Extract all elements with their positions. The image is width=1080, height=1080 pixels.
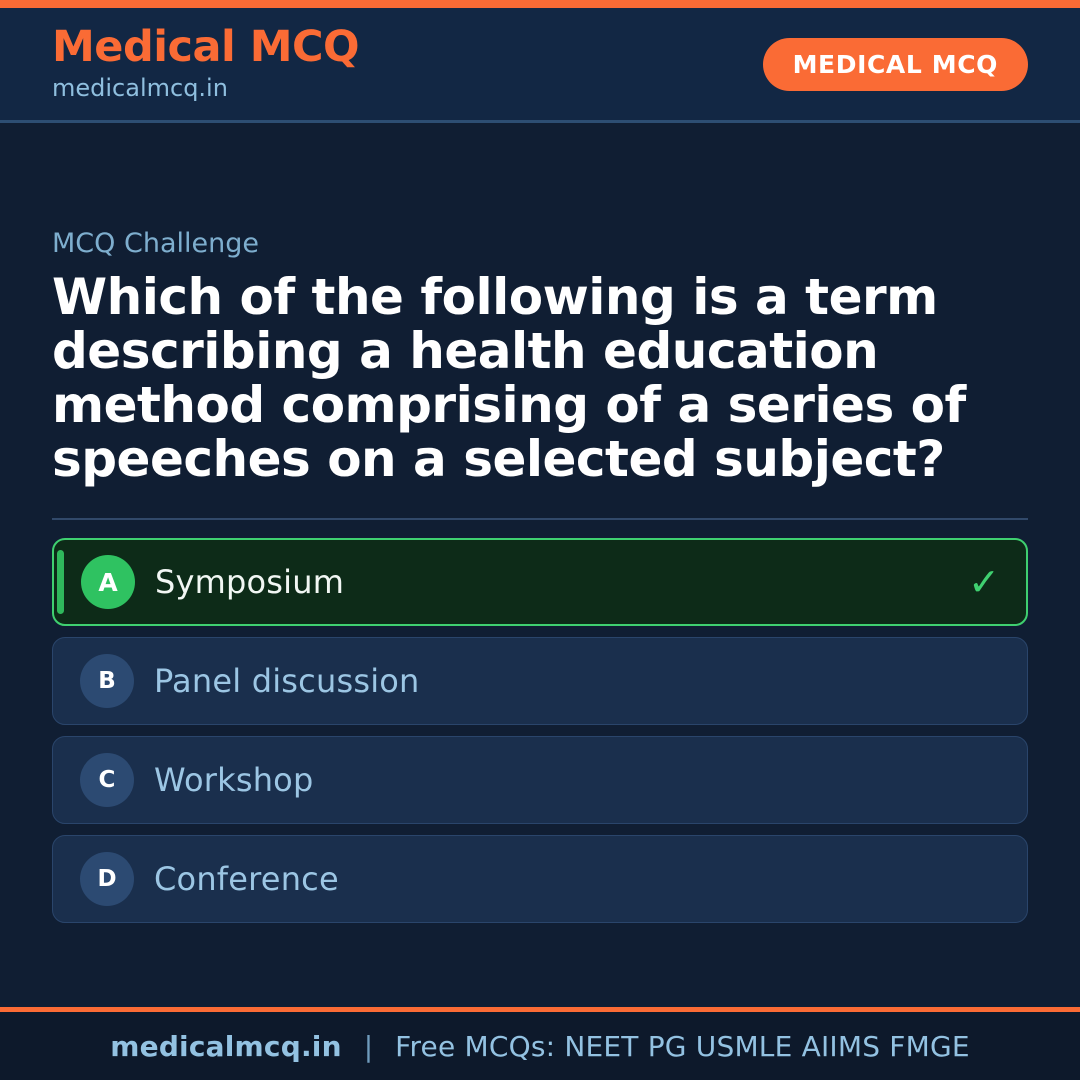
option-a[interactable]: A Symposium ✓ [52, 538, 1028, 626]
section-divider [52, 518, 1028, 520]
page-footer: medicalmcq.in | Free MCQs: NEET PG USMLE… [0, 1007, 1080, 1080]
eyebrow-label: MCQ Challenge [52, 228, 1028, 260]
footer-exams: Free MCQs: NEET PG USMLE AIIMS FMGE [395, 1030, 970, 1063]
option-b-letter-badge: B [80, 654, 134, 708]
option-c[interactable]: C Workshop [52, 736, 1028, 824]
question-text: Which of the following is a term describ… [52, 270, 1028, 486]
brand-subtitle: medicalmcq.in [52, 74, 359, 103]
correct-accent-bar [57, 550, 64, 614]
main-content: MCQ Challenge Which of the following is … [0, 123, 1080, 1007]
page-header: Medical MCQ medicalmcq.in MEDICAL MCQ [0, 8, 1080, 123]
option-b-label: Panel discussion [154, 665, 420, 697]
header-badge: MEDICAL MCQ [763, 38, 1028, 91]
top-accent-stripe [0, 0, 1080, 8]
brand-title: Medical MCQ [52, 25, 359, 70]
footer-content: medicalmcq.in | Free MCQs: NEET PG USMLE… [110, 1030, 970, 1063]
mcq-card: Medical MCQ medicalmcq.in MEDICAL MCQ MC… [0, 0, 1080, 1080]
footer-site: medicalmcq.in [110, 1030, 341, 1063]
option-d[interactable]: D Conference [52, 835, 1028, 923]
brand: Medical MCQ medicalmcq.in [52, 25, 359, 103]
option-a-letter-badge: A [81, 555, 135, 609]
footer-separator: | [364, 1030, 373, 1063]
options-list: A Symposium ✓ B Panel discussion C Works… [52, 538, 1028, 923]
check-icon: ✓ [968, 563, 1000, 601]
option-c-label: Workshop [154, 764, 313, 796]
option-d-letter-badge: D [80, 852, 134, 906]
option-a-label: Symposium [155, 566, 344, 598]
option-c-letter-badge: C [80, 753, 134, 807]
option-d-label: Conference [154, 863, 339, 895]
option-b[interactable]: B Panel discussion [52, 637, 1028, 725]
